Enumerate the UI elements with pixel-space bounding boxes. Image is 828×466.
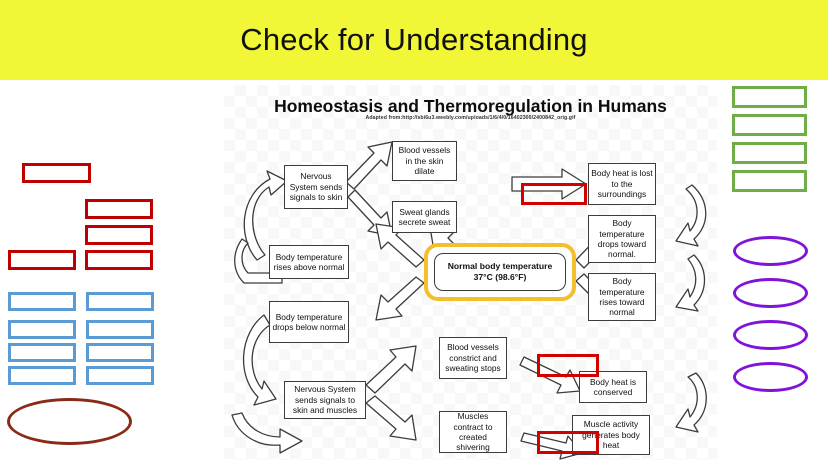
annotation-rect-3[interactable] bbox=[537, 431, 599, 454]
arrow-center-to-drops-below bbox=[376, 277, 424, 320]
slide: Check for Understanding Homeostasis and … bbox=[0, 0, 828, 466]
arrow-nervous-to-dilate bbox=[346, 142, 392, 189]
node-temp-drops-below-normal[interactable]: Body temperature drops below normal bbox=[269, 301, 349, 343]
node-sweat-glands[interactable]: Sweat glands secrete sweat bbox=[392, 201, 457, 233]
answer-rect-blue-2[interactable] bbox=[86, 292, 154, 311]
node-temp-drops-toward-normal[interactable]: Body temperature drops toward normal. bbox=[588, 215, 656, 263]
answer-rect-blue-3[interactable] bbox=[8, 320, 76, 339]
center-temp-label: Normal body temperature bbox=[448, 261, 553, 271]
arrow-right-upper-curve bbox=[676, 185, 706, 246]
annotation-rect-2[interactable] bbox=[537, 354, 599, 377]
answer-rect-green-2[interactable] bbox=[732, 114, 807, 136]
answer-rect-blue-5[interactable] bbox=[8, 343, 76, 362]
arrow-right-mid-curve bbox=[676, 255, 705, 311]
answer-rect-red-2[interactable] bbox=[85, 199, 153, 219]
node-blood-vessels-dilate[interactable]: Blood vessels in the skin dilate bbox=[392, 141, 457, 181]
answer-ellipse-purple-3[interactable] bbox=[733, 320, 808, 350]
arrow-loop-bottom-left bbox=[232, 413, 302, 453]
answer-rect-red-5[interactable] bbox=[8, 250, 76, 270]
answer-rect-blue-8[interactable] bbox=[86, 366, 154, 385]
answer-ellipse-purple-1[interactable] bbox=[733, 236, 808, 266]
page-title: Check for Understanding bbox=[240, 22, 588, 58]
answer-rect-blue-6[interactable] bbox=[86, 343, 154, 362]
answer-ellipse-dark-red-1[interactable] bbox=[7, 398, 132, 445]
homeostasis-diagram: Homeostasis and Thermoregulation in Huma… bbox=[224, 85, 717, 460]
answer-rect-red-1[interactable] bbox=[22, 163, 91, 183]
answer-rect-green-4[interactable] bbox=[732, 170, 807, 192]
answer-rect-blue-1[interactable] bbox=[8, 292, 76, 311]
node-nervous-system-skin-muscles[interactable]: Nervous System sends signals to skin and… bbox=[284, 381, 366, 419]
center-temp-value: 37°C (98.6°F) bbox=[474, 272, 527, 282]
answer-rect-blue-4[interactable] bbox=[86, 320, 154, 339]
answer-rect-red-3[interactable] bbox=[85, 225, 153, 245]
arrow-nervous2-to-constrict bbox=[366, 346, 416, 393]
slide-title-banner: Check for Understanding bbox=[0, 0, 828, 80]
annotation-rect-1[interactable] bbox=[521, 183, 587, 205]
answer-ellipse-purple-4[interactable] bbox=[733, 362, 808, 392]
arrow-nervous2-to-shivering bbox=[366, 396, 416, 440]
node-temp-rises-toward-normal[interactable]: Body temperature rises toward normal bbox=[588, 273, 656, 321]
answer-ellipse-purple-2[interactable] bbox=[733, 278, 808, 308]
answer-rect-green-1[interactable] bbox=[732, 86, 807, 108]
answer-rect-red-4[interactable] bbox=[85, 250, 153, 270]
answer-rect-blue-7[interactable] bbox=[8, 366, 76, 385]
node-body-heat-lost[interactable]: Body heat is lost to the surroundings bbox=[588, 163, 656, 205]
node-blood-vessels-constrict[interactable]: Blood vessels constrict and sweating sto… bbox=[439, 337, 507, 379]
node-nervous-system-skin[interactable]: Nervous System sends signals to skin bbox=[284, 165, 348, 209]
node-muscles-contract-shivering[interactable]: Muscles contract to created shivering bbox=[439, 411, 507, 453]
node-temp-rises-above-normal[interactable]: Body temperature rises above normal bbox=[269, 245, 349, 279]
node-normal-body-temperature[interactable]: Normal body temperature 37°C (98.6°F) bbox=[424, 243, 576, 301]
arrow-right-lower-curve bbox=[676, 373, 706, 432]
node-normal-body-temperature-inner: Normal body temperature 37°C (98.6°F) bbox=[434, 253, 566, 291]
answer-rect-green-3[interactable] bbox=[732, 142, 807, 164]
